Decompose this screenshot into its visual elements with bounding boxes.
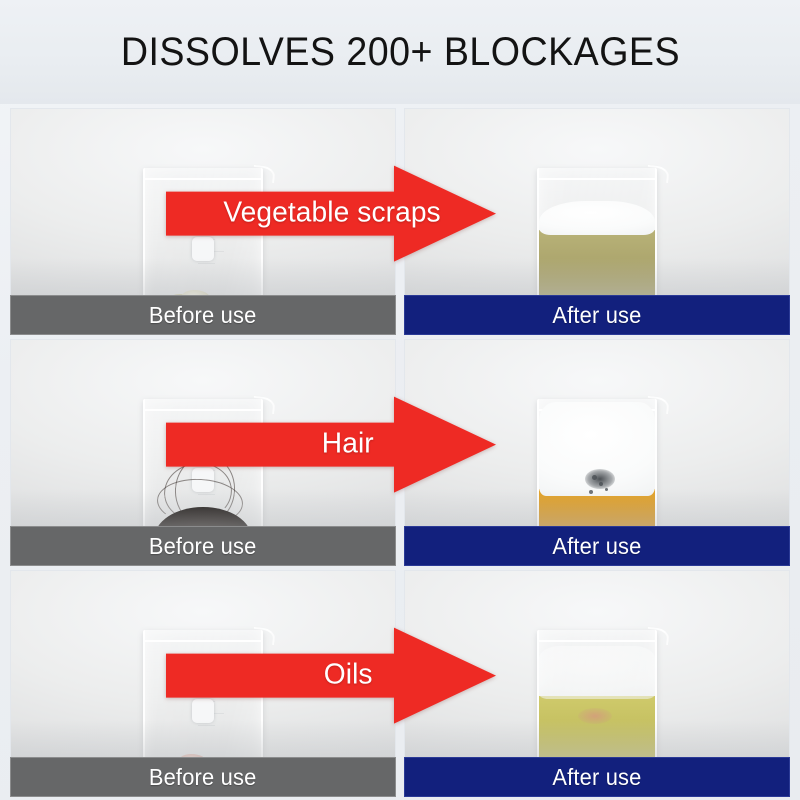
page-title: DISSOLVES 200+ BLOCKAGES (120, 30, 679, 75)
caption-text: After use (552, 764, 641, 791)
caption-before-vegetable-scraps: Before use (10, 295, 396, 335)
caption-text: Before use (149, 533, 257, 560)
caption-text: After use (552, 533, 641, 560)
caption-text: Before use (149, 764, 257, 791)
pink-residue (578, 708, 612, 724)
caption-after-vegetable-scraps: After use (404, 295, 790, 335)
comparison-grid: Vegetable scraps Before use After use (0, 106, 800, 800)
caption-text: After use (552, 302, 641, 329)
cloudy-top (539, 646, 655, 699)
caption-text: Before use (149, 302, 257, 329)
comparison-row-oils: Oils Before use After use (0, 568, 800, 799)
beaker-rim (143, 178, 263, 185)
caption-after-oils: After use (404, 757, 790, 797)
beaker-label-sticker (192, 237, 214, 261)
comparison-row-hair: Hair Before use After use (0, 337, 800, 568)
product-comparison-infographic: DISSOLVES 200+ BLOCKAGES (0, 0, 800, 800)
beaker-rim (537, 178, 657, 185)
caption-before-hair: Before use (10, 526, 396, 566)
caption-before-oils: Before use (10, 757, 396, 797)
beaker-rim (143, 640, 263, 647)
beaker-rim (143, 409, 263, 416)
caption-after-hair: After use (404, 526, 790, 566)
beaker-label-sticker (192, 699, 214, 723)
white-foam (539, 201, 655, 235)
title-banner: DISSOLVES 200+ BLOCKAGES (0, 0, 800, 104)
comparison-row-vegetable-scraps: Vegetable scraps Before use After use (0, 106, 800, 337)
